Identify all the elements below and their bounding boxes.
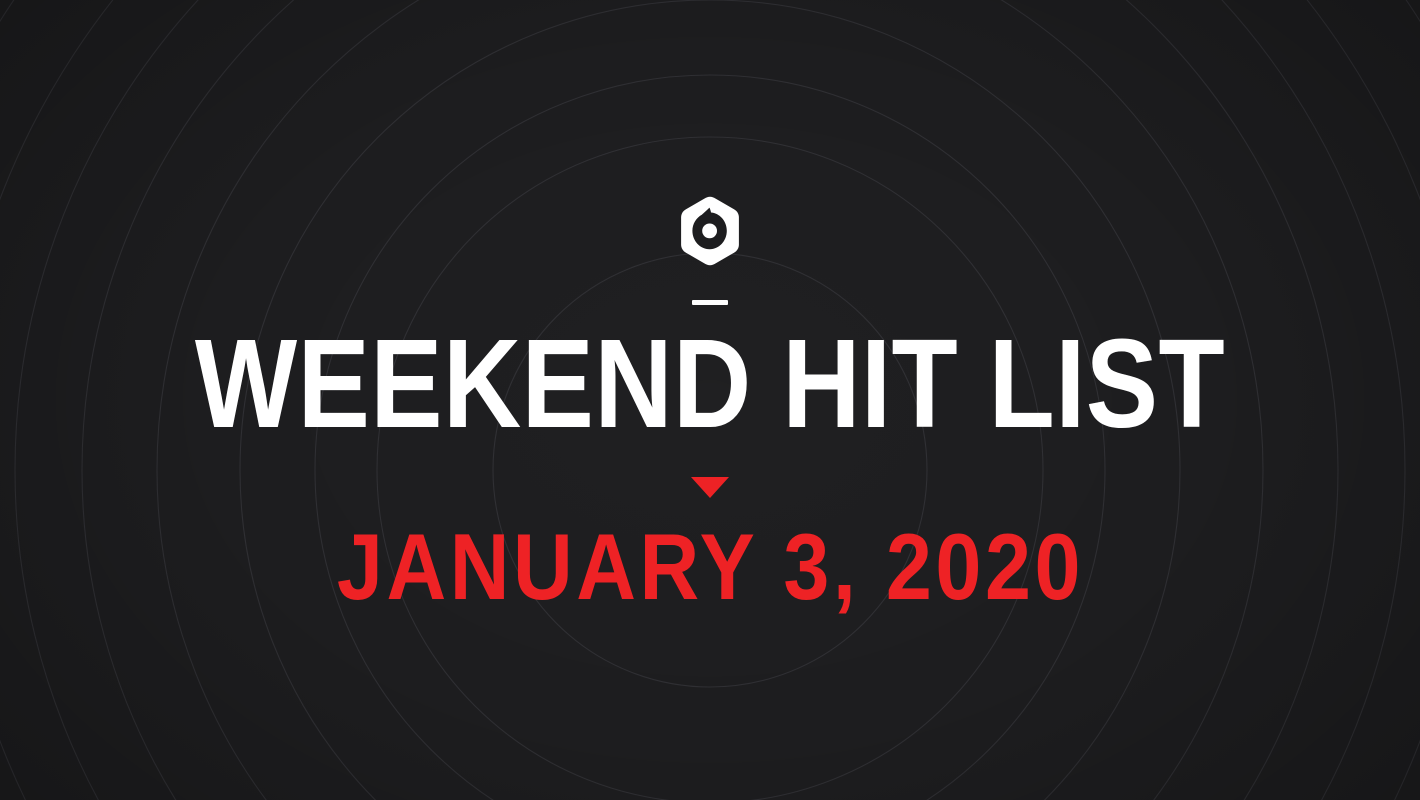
hero-content: WEEKEND HIT LIST JANUARY 3, 2020 (0, 0, 1420, 800)
episode-date: JANUARY 3, 2020 (336, 520, 1083, 614)
weekend-hit-list-title-card: WEEKEND HIT LIST JANUARY 3, 2020 (0, 0, 1420, 800)
hexagon-vinyl-logo-icon (679, 196, 741, 266)
page-title: WEEKEND HIT LIST (195, 322, 1225, 445)
triangle-down-icon (691, 477, 729, 498)
divider-rule (692, 300, 728, 305)
